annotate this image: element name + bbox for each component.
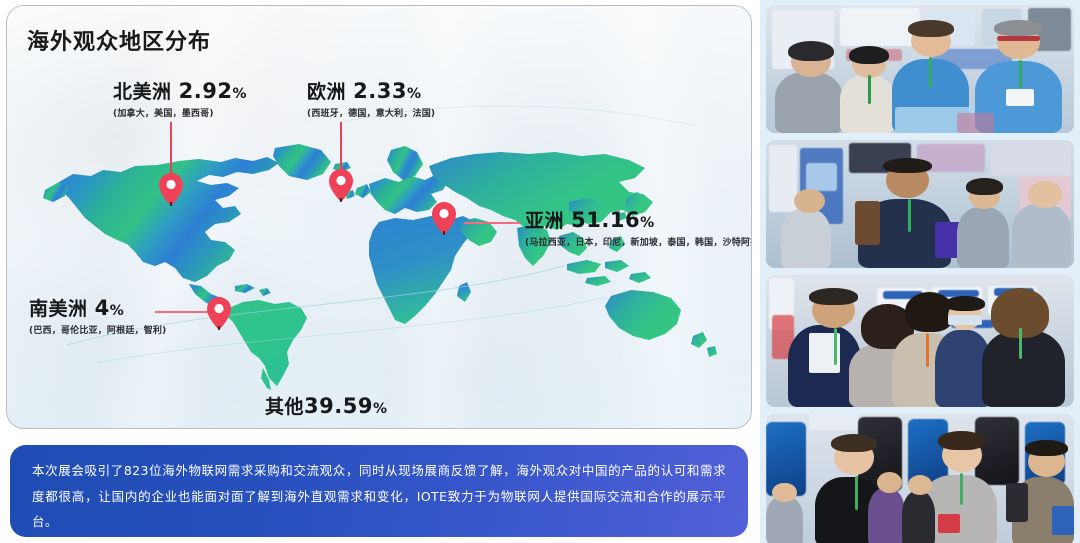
region-countries-asia: (马拉西亚，日本，印尼，新加坡，泰国，韩国，沙特阿拉伯)	[525, 235, 752, 248]
region-countries-south-america: (巴西，哥伦比亚，阿根廷，智利)	[29, 323, 166, 336]
photo-2[interactable]	[766, 140, 1074, 268]
photo-1-scene	[766, 5, 1074, 133]
region-countries-europe: (西班牙，德国，意大利，法国)	[307, 106, 435, 119]
region-unit-europe: %	[407, 86, 422, 102]
photo-4-scene	[766, 414, 1074, 543]
region-label-asia: 亚洲 51.16% (马拉西亚，日本，印尼，新加坡，泰国，韩国，沙特阿拉伯)	[525, 209, 752, 248]
map-pin-south-america[interactable]	[207, 297, 231, 330]
region-value-south-america: 4	[95, 296, 110, 320]
summary-text: 本次展会吸引了823位海外物联网需求采购和交流观众，同时从现场展商反馈了解，海外…	[32, 458, 726, 535]
region-label-north-america: 北美洲 2.92% (加拿大，美国，墨西哥)	[113, 80, 247, 119]
region-value-north-america: 2.92	[179, 79, 233, 103]
region-label-other: 其他39.59%	[265, 395, 387, 418]
region-unit-north-america: %	[232, 86, 247, 102]
region-label-south-america: 南美洲 4% (巴西，哥伦比亚，阿根廷，智利)	[29, 297, 166, 336]
region-name-south-america: 南美洲	[29, 298, 88, 320]
region-name-north-america: 北美洲	[113, 81, 172, 103]
region-value-asia: 51.16	[571, 208, 640, 232]
left-column: 海外观众地区分布	[0, 0, 760, 543]
map-pin-europe[interactable]	[329, 169, 353, 202]
photo-rail	[760, 0, 1080, 543]
map-pin-asia[interactable]	[432, 202, 456, 235]
region-name-europe: 欧洲	[307, 81, 346, 103]
pin-stem-asia	[464, 222, 520, 224]
photo-3-scene	[766, 275, 1074, 407]
region-value-europe: 2.33	[353, 79, 407, 103]
pin-stem-north-america	[170, 122, 172, 180]
photo-2-scene	[766, 140, 1074, 268]
region-name-other: 其他	[265, 396, 304, 418]
region-countries-north-america: (加拿大，美国，墨西哥)	[113, 106, 247, 119]
world-map	[39, 136, 729, 396]
photo-4[interactable]	[766, 414, 1074, 543]
region-unit-south-america: %	[110, 303, 125, 319]
photo-3[interactable]	[766, 275, 1074, 407]
overseas-audience-infographic: 海外观众地区分布	[0, 0, 1080, 543]
region-unit-other: %	[373, 401, 388, 417]
map-card: 海外观众地区分布	[6, 5, 752, 429]
page-title: 海外观众地区分布	[27, 24, 211, 56]
region-label-europe: 欧洲 2.33% (西班牙，德国，意大利，法国)	[307, 80, 435, 119]
photo-1[interactable]	[766, 5, 1074, 133]
region-name-asia: 亚洲	[525, 210, 564, 232]
map-pin-north-america[interactable]	[159, 173, 183, 206]
pin-stem-europe	[340, 122, 342, 174]
region-unit-asia: %	[640, 215, 655, 231]
region-value-other: 39.59	[304, 394, 373, 418]
summary-callout: 本次展会吸引了823位海外物联网需求采购和交流观众，同时从现场展商反馈了解，海外…	[10, 445, 748, 537]
